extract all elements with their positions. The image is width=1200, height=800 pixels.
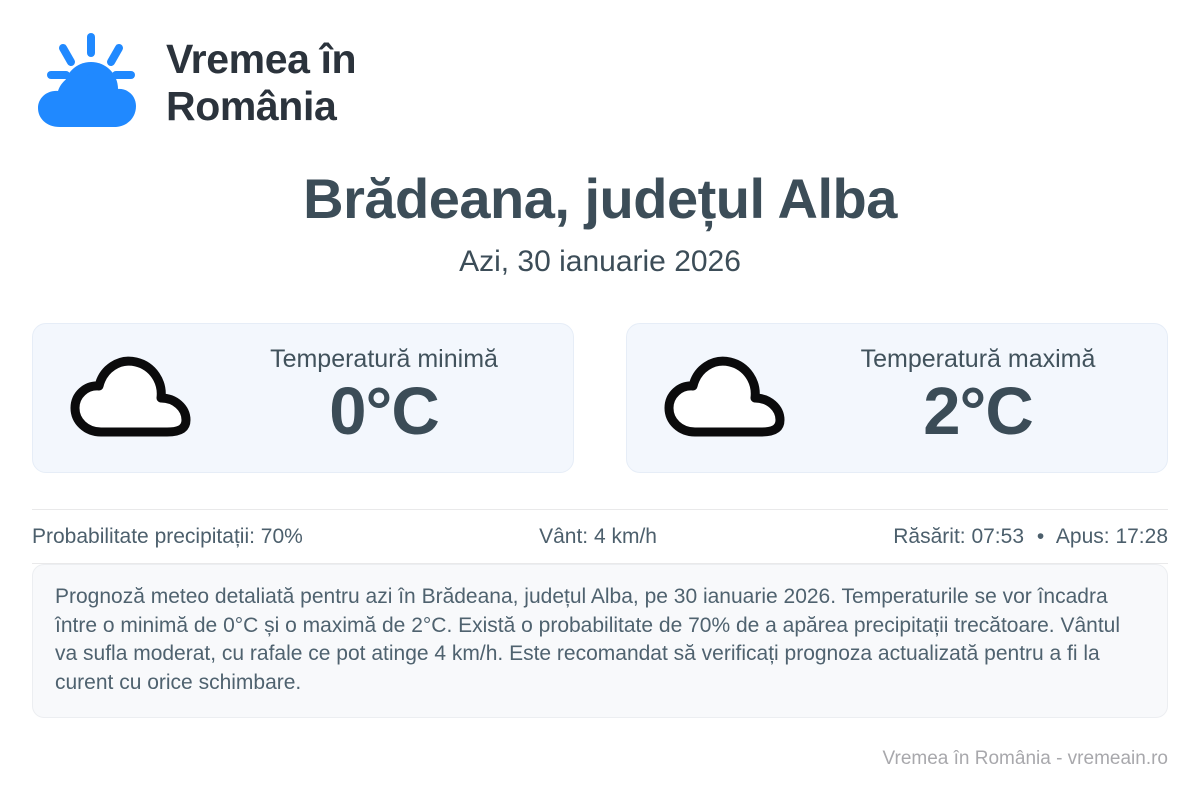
min-temperature-value: 0°C [329,375,438,449]
min-temperature-card: Temperatură minimă 0°C [32,323,574,473]
temperature-cards: Temperatură minimă 0°C Temperatură maxim… [32,323,1168,473]
max-temperature-label: Temperatură maximă [861,343,1096,375]
wind-stat: Vânt: 4 km/h [303,523,893,550]
sun-cloud-icon [32,31,144,135]
weather-page: Vremea în România Brădeana, județul Alba… [0,0,1200,800]
max-temperature-value: 2°C [923,375,1032,449]
min-temperature-label: Temperatură minimă [270,343,498,375]
site-brand[interactable]: Vremea în România [32,0,1168,118]
sun-separator: • [1030,525,1051,548]
footer-attribution: Vremea în România - vremeain.ro [883,747,1168,771]
cloud-icon [67,352,195,444]
cloud-icon [661,352,789,444]
sun-times-stat: Răsărit: 07:53 • Apus: 17:28 [893,523,1168,550]
sunset-value: Apus: 17:28 [1056,525,1168,548]
stats-row: Probabilitate precipitații: 70% Vânt: 4 … [32,510,1168,563]
max-temperature-card: Temperatură maximă 2°C [626,323,1168,473]
forecast-description: Prognoză meteo detaliată pentru azi în B… [32,564,1168,718]
max-temperature-text: Temperatură maximă 2°C [815,343,1141,449]
min-temperature-text: Temperatură minimă 0°C [221,343,547,449]
precipitation-stat: Probabilitate precipitații: 70% [32,523,303,550]
page-title: Brădeana, județul Alba [32,168,1168,230]
forecast-date: Azi, 30 ianuarie 2026 [32,244,1168,280]
brand-name: Vremea în România [166,36,356,130]
sunrise-value: Răsărit: 07:53 [893,525,1024,548]
